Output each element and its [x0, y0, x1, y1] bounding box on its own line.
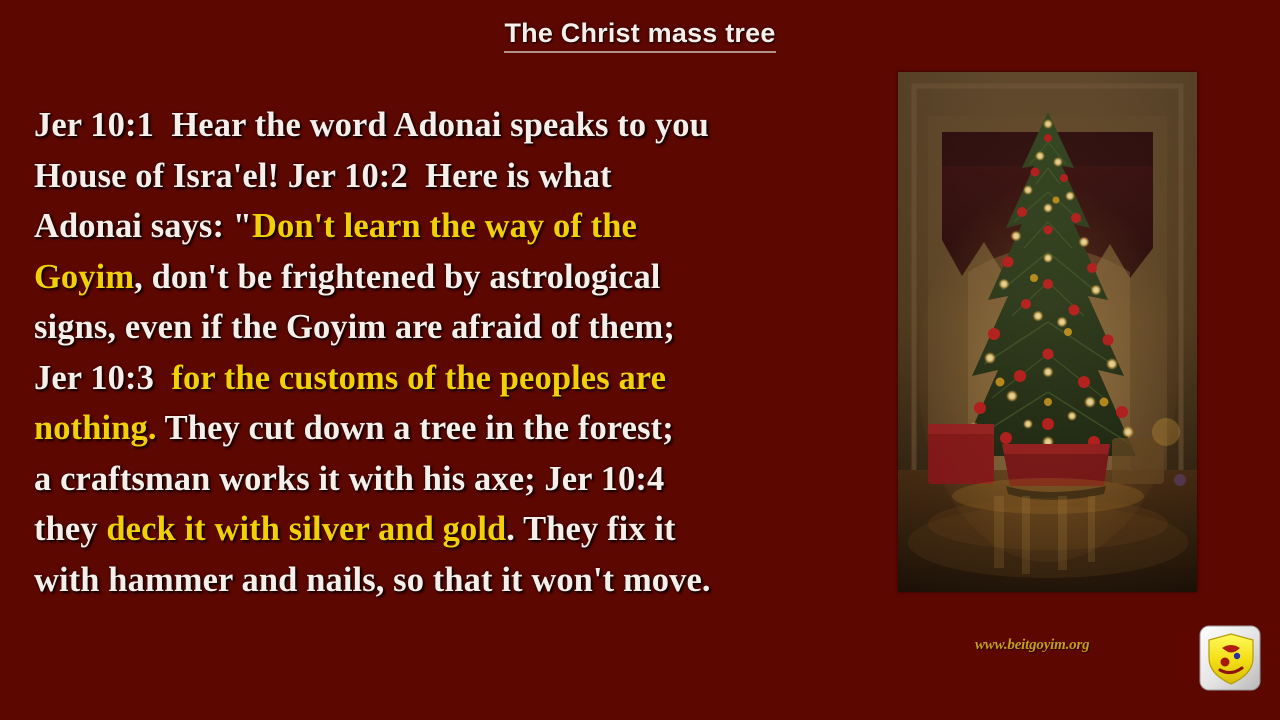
verse-run: , don't be frightened by astrological — [134, 258, 660, 296]
christmas-tree-photo — [898, 72, 1197, 592]
verse-run: House of Isra'el! Jer 10:2 Here is what — [34, 157, 612, 195]
verse-highlight: Goyim — [34, 258, 134, 296]
verse-highlight: Don't learn the way of the — [252, 207, 637, 245]
verse-run: a craftsman works it with his axe; Jer 1… — [34, 460, 664, 498]
verse-highlight: for the customs of the peoples are — [171, 359, 666, 397]
verse-highlight: deck it with silver and gold — [106, 510, 506, 548]
slide-canvas: The Christ mass tree Jer 10:1 Hear the w… — [0, 0, 1280, 720]
watermark-url: www.beitgoyim.org — [975, 637, 1089, 654]
page-title: The Christ mass tree — [504, 18, 775, 53]
shield-badge-logo[interactable] — [1198, 622, 1264, 696]
verse-run: they — [34, 510, 106, 548]
verse-run: with hammer and nails, so that it won't … — [34, 561, 711, 599]
verse-run: . They fix it — [506, 510, 675, 548]
verse-run: Jer 10:1 Hear the word Adonai speaks to … — [34, 106, 709, 144]
verse-highlight: nothing. — [34, 409, 157, 447]
title-bar: The Christ mass tree — [0, 18, 1280, 53]
verse-run: signs, even if the Goyim are afraid of t… — [34, 308, 675, 346]
verse-run: Adonai says: " — [34, 207, 252, 245]
verse-run: Jer 10:3 — [34, 359, 171, 397]
verse-run: They cut down a tree in the forest; — [157, 409, 674, 447]
